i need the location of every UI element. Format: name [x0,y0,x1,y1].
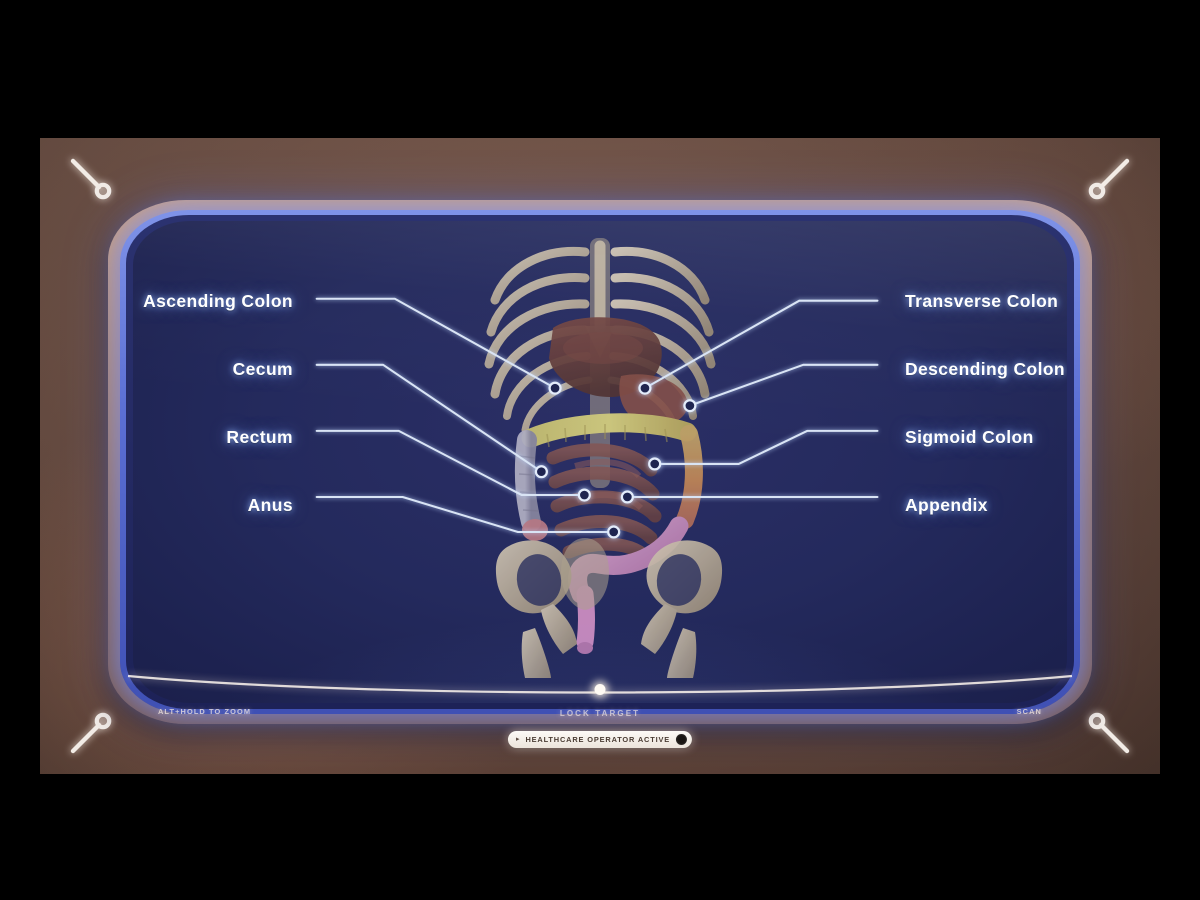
corner-marker-top-right[interactable] [1080,154,1134,208]
status-indicator-dot[interactable] [676,734,687,745]
leader-dot-rectum [579,490,590,501]
corner-marker-top-left[interactable] [66,154,120,208]
leader-cecum [317,365,542,472]
console-panel: Ascending Colon Cecum Rectum Anus Transv… [40,138,1160,774]
screen-bezel: Ascending Colon Cecum Rectum Anus Transv… [108,200,1092,724]
leader-dot-appendix [622,492,633,503]
leader-dot-sigmoid-colon [649,459,660,470]
leader-dot-ascending-colon [550,383,561,394]
leader-dot-cecum [536,466,547,477]
label-rectum[interactable]: Rectum [226,427,293,448]
target-slider-handle[interactable] [595,684,606,695]
leader-dot-descending-colon [684,400,695,411]
label-anus[interactable]: Anus [248,495,293,516]
screenshot-root: Ascending Colon Cecum Rectum Anus Transv… [0,0,1200,900]
screen-bezel-inner: Ascending Colon Cecum Rectum Anus Transv… [126,215,1074,709]
corner-marker-bottom-right[interactable] [1080,704,1134,758]
status-pill[interactable]: ▸ HEALTHCARE OPERATOR ACTIVE [508,731,692,748]
leader-dot-transverse-colon [639,383,650,394]
status-pill-label: HEALTHCARE OPERATOR ACTIVE [525,735,670,744]
leader-descending-colon [690,365,878,406]
label-transverse-colon[interactable]: Transverse Colon [905,291,1058,312]
leader-transverse-colon [645,301,878,388]
corner-marker-bottom-left[interactable] [66,704,120,758]
leader-ascending-colon [317,299,555,388]
leader-anus [317,497,614,532]
lock-target-label: LOCK TARGET [560,709,640,718]
label-appendix[interactable]: Appendix [905,495,988,516]
hud-hint-left: ALT+HOLD TO ZOOM [158,707,251,716]
label-cecum[interactable]: Cecum [233,359,293,380]
leader-sigmoid-colon [655,431,878,464]
label-sigmoid-colon[interactable]: Sigmoid Colon [905,427,1034,448]
label-descending-colon[interactable]: Descending Colon [905,359,1065,380]
hud-hint-right: SCAN [1017,707,1042,716]
label-ascending-colon[interactable]: Ascending Colon [143,291,293,312]
pill-caret-icon: ▸ [516,736,520,743]
anatomy-screen[interactable]: Ascending Colon Cecum Rectum Anus Transv… [133,221,1067,703]
leader-dot-anus [608,527,619,538]
leader-rectum [317,431,585,495]
screen-bezel-glow: Ascending Colon Cecum Rectum Anus Transv… [120,210,1080,714]
